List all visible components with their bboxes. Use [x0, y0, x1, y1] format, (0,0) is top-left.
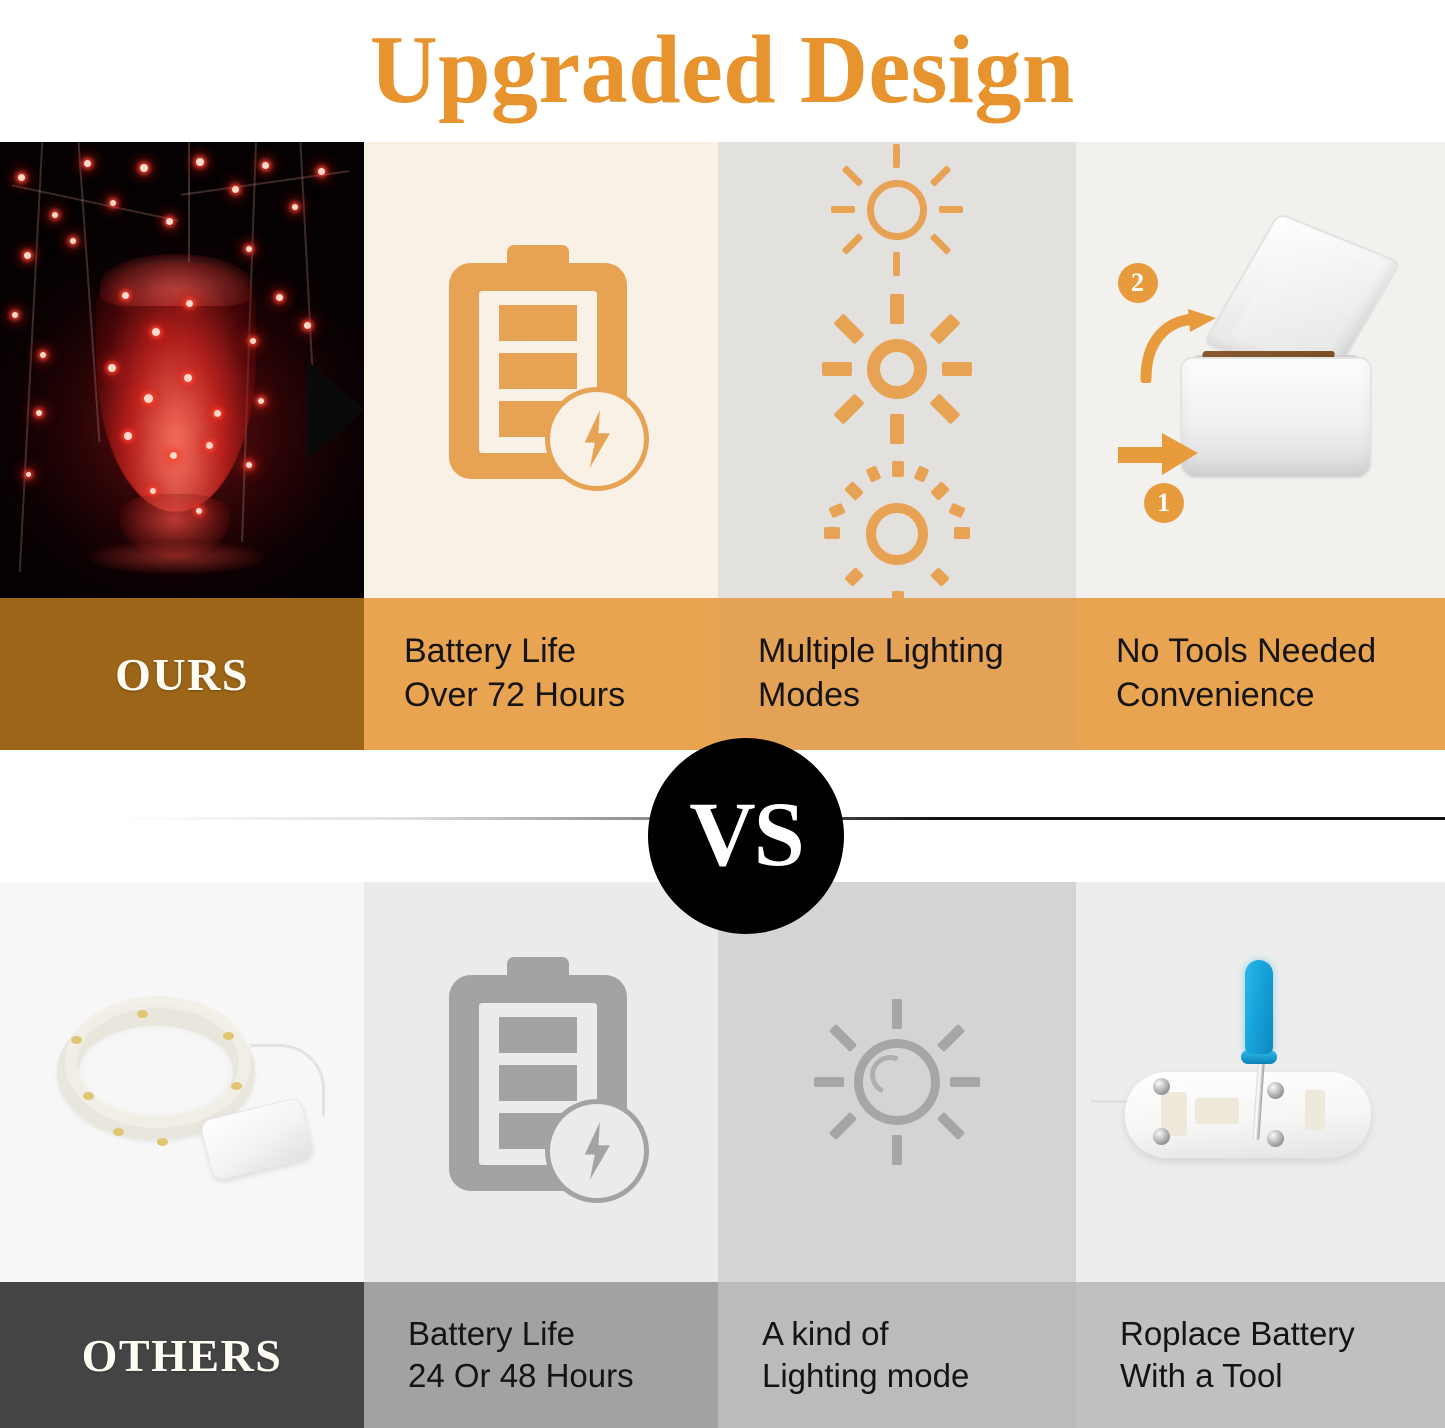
no-tools-media: 2 1	[1076, 142, 1445, 598]
screw-icon	[1153, 1128, 1170, 1145]
vase-base	[88, 540, 264, 574]
lighting-modes-media	[718, 142, 1076, 598]
lit-vase-photo	[0, 142, 364, 598]
caption-line-1: Roplace Battery	[1120, 1313, 1355, 1355]
ours-modes-caption: Multiple Lighting Modes	[718, 630, 1004, 717]
caption-line-2: Over 72 Hours	[404, 674, 625, 718]
step-badge-2: 2	[1118, 263, 1158, 303]
battery-media-gray	[364, 882, 718, 1282]
single-sun-icon-gray	[812, 997, 982, 1167]
step-badge-1: 1	[1144, 483, 1184, 523]
row-others: OTHERS Battery Life 24 Or 48 Hou	[0, 882, 1445, 1428]
replace-battery-media	[1076, 882, 1445, 1282]
ours-battery-caption: Battery Life Over 72 Hours	[364, 630, 625, 717]
wire-coil-inner	[65, 996, 251, 1128]
curved-arrow-icon	[1138, 309, 1218, 383]
straight-arrow-icon	[1118, 433, 1200, 479]
screw-icon	[1153, 1078, 1170, 1095]
others-mode-caption: A kind of Lighting mode	[718, 1313, 969, 1397]
others-replace-band: Roplace Battery With a Tool	[1076, 1282, 1445, 1428]
coil-scene	[17, 932, 347, 1232]
sun-icon-bold	[822, 294, 972, 433]
caption-line-2: Lighting mode	[762, 1355, 969, 1397]
screwdriver-battery-photo	[1091, 932, 1431, 1232]
caption-line-1: No Tools Needed	[1116, 630, 1376, 674]
versus-badge: VS	[648, 738, 844, 934]
caption-line-1: Battery Life	[408, 1313, 634, 1355]
others-battery-caption: Battery Life 24 Or 48 Hours	[364, 1313, 634, 1397]
others-battery-band: Battery Life 24 Or 48 Hours	[364, 1282, 718, 1428]
coiled-fairy-light-photo	[0, 882, 364, 1282]
ours-cell-no-tools: 2 1 No Tools Needed Convenience	[1076, 142, 1445, 750]
others-replace-caption: Roplace Battery With a Tool	[1076, 1313, 1355, 1397]
screw-icon	[1267, 1130, 1284, 1147]
multiple-sun-icons	[822, 142, 972, 598]
ours-no-tools-band: No Tools Needed Convenience	[1076, 598, 1445, 750]
vase-body	[96, 262, 256, 512]
caption-line-1: Battery Life	[404, 630, 625, 674]
battery-box-open-photo: 2 1	[1096, 205, 1426, 535]
lightning-bolt-icon	[545, 387, 649, 491]
versus-label: VS	[689, 781, 803, 887]
others-brand-label: OTHERS	[82, 1329, 283, 1382]
screw-icon	[1267, 1082, 1284, 1099]
battery-media	[364, 142, 718, 598]
caption-line-1: Multiple Lighting	[758, 630, 1004, 674]
page-title: Upgraded Design	[370, 21, 1075, 119]
caption-line-1: A kind of	[762, 1313, 969, 1355]
lighting-mode-media-gray	[718, 882, 1076, 1282]
ours-cell-product: OURS	[0, 142, 364, 750]
row-ours: OURS Battery Life Over 72 Hours	[0, 142, 1445, 750]
ours-brand-label: OURS	[115, 648, 249, 701]
sun-icon-dotted	[822, 459, 972, 598]
battery-charge-icon	[441, 245, 641, 495]
caption-line-2: With a Tool	[1120, 1355, 1355, 1397]
caption-line-2: 24 Or 48 Hours	[408, 1355, 634, 1397]
others-mode-band: A kind of Lighting mode	[718, 1282, 1076, 1428]
comparison-infographic: Upgraded Design	[0, 0, 1445, 1428]
ours-modes-band: Multiple Lighting Modes	[718, 598, 1076, 750]
ours-cell-battery: Battery Life Over 72 Hours	[364, 142, 718, 750]
others-cell-battery: Battery Life 24 Or 48 Hours	[364, 882, 718, 1428]
pointer-arrow-icon	[307, 360, 364, 460]
sun-icon-thin	[829, 142, 965, 268]
ours-brand-band: OURS	[0, 598, 364, 750]
lightning-bolt-icon-gray	[545, 1099, 649, 1203]
ours-no-tools-caption: No Tools Needed Convenience	[1076, 630, 1376, 717]
others-brand-band: OTHERS	[0, 1282, 364, 1428]
others-cell-mode: A kind of Lighting mode	[718, 882, 1076, 1428]
others-cell-product: OTHERS	[0, 882, 364, 1428]
title-bar: Upgraded Design	[0, 0, 1445, 140]
ours-battery-band: Battery Life Over 72 Hours	[364, 598, 718, 750]
ours-cell-modes: Multiple Lighting Modes	[718, 142, 1076, 750]
battery-charge-icon-gray	[441, 957, 641, 1207]
caption-line-2: Convenience	[1116, 674, 1376, 718]
screwdriver-handle	[1245, 960, 1273, 1054]
others-cell-replace: Roplace Battery With a Tool	[1076, 882, 1445, 1428]
caption-line-2: Modes	[758, 674, 1004, 718]
